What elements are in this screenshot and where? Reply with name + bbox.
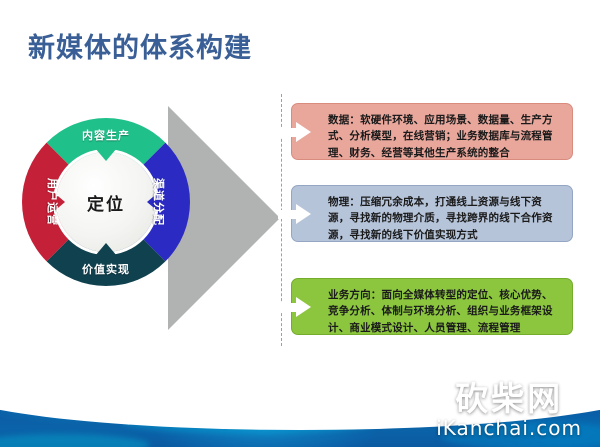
- cycle-diagram: 定位 内容生产 渠道分配 价值实现 用户运营: [22, 118, 190, 286]
- center-label: 定位: [56, 152, 156, 252]
- texture-streak: [0, 434, 150, 447]
- arrow-head: [296, 204, 311, 224]
- quadrant-label-right: 渠道分配: [151, 178, 167, 226]
- quadrant-label-left: 用户运营: [45, 178, 61, 226]
- quadrant-label-bottom: 价值实现: [82, 261, 130, 277]
- arrow-tail: [278, 303, 298, 312]
- page-title: 新媒体的体系构建: [28, 26, 252, 65]
- slide-canvas: 新媒体的体系构建 砍柴网 iKanchai.com 定位 内容生产 渠道分配 价…: [0, 0, 600, 447]
- white-arrow-business-icon: [278, 297, 312, 317]
- watermark-cn-text: 砍柴网: [436, 382, 582, 417]
- arrow-tail: [278, 128, 298, 137]
- callout-box-data: 数据：软硬件环境、应用场景、数据量、生产方式、分析模型，在线营销；业务数据库与流…: [291, 103, 573, 160]
- arrow-head: [296, 122, 311, 142]
- arrow-head: [296, 297, 311, 317]
- callout-box-business: 业务方向：面向全媒体转型的定位、核心优势、竞争分析、体制与环境分析、组织与业务框…: [291, 278, 573, 335]
- white-arrow-physical-icon: [278, 204, 312, 224]
- callout-box-physical: 物理：压缩冗余成本，打通线上资源与线下资源，寻找新的物理介质，寻找跨界的线下合作…: [291, 185, 573, 242]
- white-arrow-data-icon: [278, 122, 312, 142]
- quadrant-label-top: 内容生产: [82, 127, 130, 143]
- arrow-tail: [278, 210, 298, 219]
- watermark-url-text: iKanchai.com: [436, 417, 582, 439]
- watermark: 砍柴网 iKanchai.com: [436, 382, 582, 439]
